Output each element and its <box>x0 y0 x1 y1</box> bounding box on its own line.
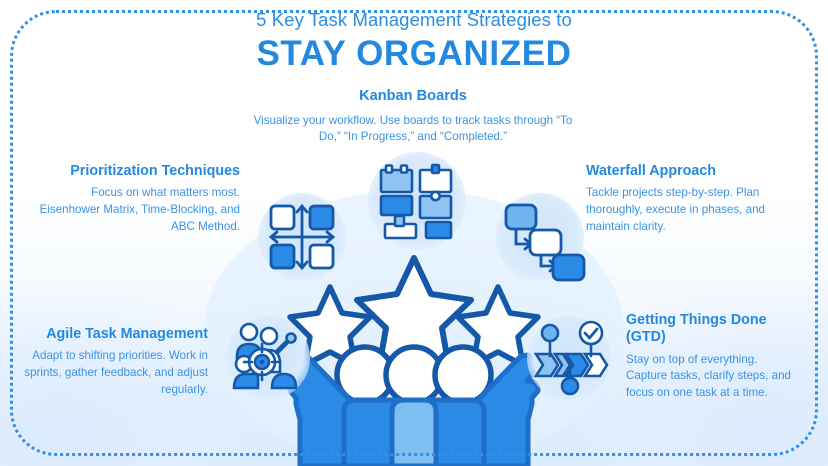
team-target-icon <box>232 322 304 394</box>
strategy-block-kanban-boards: Kanban Boards Visualize your workflow. U… <box>243 88 583 146</box>
strategy-heading: Kanban Boards <box>243 88 583 106</box>
strategy-body: Focus on what matters most. Eisenhower M… <box>38 185 240 235</box>
title-subheading: 5 Key Task Management Strategies to <box>0 8 828 31</box>
strategy-body: Tackle projects step-by-step. Plan thoro… <box>586 185 794 235</box>
strategy-block-getting-things-done: Getting Things Done (GTD) Stay on top of… <box>626 312 794 402</box>
kanban-board-icon <box>378 162 456 240</box>
workflow-check-icon <box>533 322 607 396</box>
strategy-body: Adapt to shifting priorities. Work in sp… <box>22 348 208 398</box>
quadrant-matrix-icon <box>266 201 338 273</box>
strategy-body: Visualize your workflow. Use boards to t… <box>243 113 583 146</box>
strategy-heading: Agile Task Management <box>22 326 208 343</box>
strategy-body: Stay on top of everything. Capture tasks… <box>626 352 794 402</box>
poster-title: 5 Key Task Management Strategies to STAY… <box>0 8 828 73</box>
strategy-heading: Prioritization Techniques <box>38 163 240 180</box>
waterfall-flow-icon <box>503 200 577 274</box>
strategy-heading: Waterfall Approach <box>586 163 794 180</box>
infographic-canvas: 5 Key Task Management Strategies to STAY… <box>0 0 828 466</box>
title-main: STAY ORGANIZED <box>0 34 828 73</box>
strategy-block-agile-task-management: Agile Task Management Adapt to shifting … <box>22 326 208 398</box>
strategy-block-prioritization-techniques: Prioritization Techniques Focus on what … <box>38 163 240 235</box>
strategy-heading: Getting Things Done (GTD) <box>626 312 794 347</box>
strategy-block-waterfall-approach: Waterfall Approach Tackle projects step-… <box>586 163 794 235</box>
